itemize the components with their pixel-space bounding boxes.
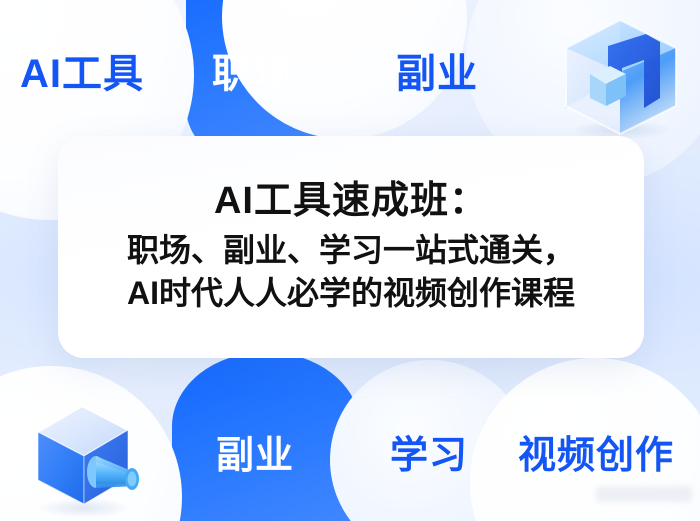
blue-cube-plug-icon [22,392,152,520]
tag-side-hustle-top: 副业 [396,41,478,99]
hexagon-glass-cube-icon [548,12,694,140]
tag-side-hustle-bottom: 副业 [216,424,294,479]
tag-video-creation: 视频创作 [518,424,674,479]
card-subtitle-line-2: AI时代人人必学的视频创作课程 [127,277,575,309]
card-subtitle-line-1: 职场、副业、学习一站式通关， [127,234,575,266]
card-title: AI工具速成班： [214,182,488,220]
promo-poster: AI工具 职场 副业 [0,0,700,521]
tag-ai-tools: AI工具 [20,41,144,99]
headline-card: AI工具速成班： 职场、副业、学习一站式通关， AI时代人人必学的视频创作课程 [58,136,644,358]
tag-workplace: 职场 [212,41,294,99]
watermark [596,486,692,502]
tag-study: 学习 [390,424,468,479]
